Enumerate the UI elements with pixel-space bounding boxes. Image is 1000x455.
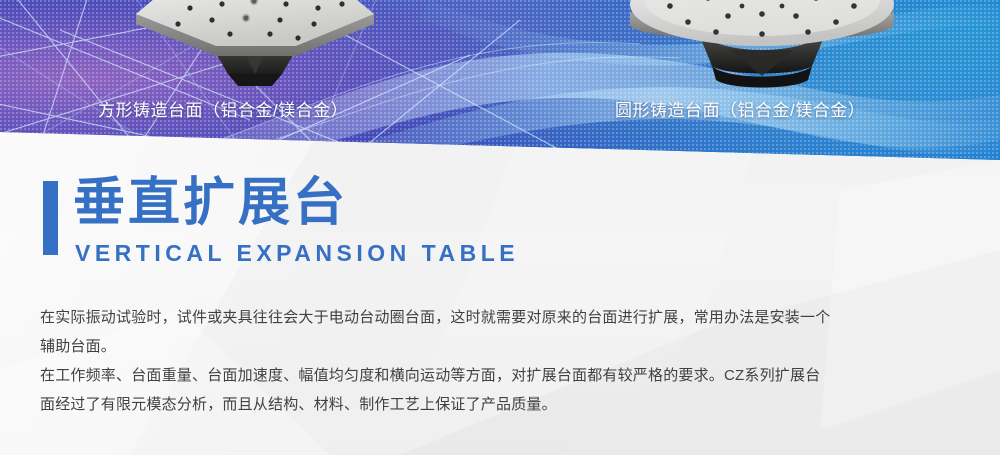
- page-title: 垂直扩展台: [73, 172, 348, 234]
- description-text: 在实际振动试验时，试件或夹具往往会大于电动台动圈台面，这时就需要对原来的台面进行…: [40, 303, 970, 419]
- round-table-caption: 圆形铸造台面（铝合金/镁合金）: [615, 96, 865, 121]
- description-line: 辅助台面。: [40, 332, 970, 361]
- description-line: 面经过了有限元模态分析，而且从结构、材料、制作工艺上保证了产品质量。: [40, 390, 970, 419]
- title-block: 垂直扩展台 VERTICAL EXPANSION TABLE: [43, 178, 643, 268]
- round-table-photo: [612, 0, 912, 100]
- page-subtitle: VERTICAL EXPANSION TABLE: [75, 240, 519, 266]
- title-accent-bar: [43, 181, 58, 255]
- product-feature-page: 方形铸造台面（铝合金/镁合金） 圆形铸造台面（铝合金/镁合金） 垂直扩展台 VE…: [0, 0, 1000, 455]
- square-table-photo: [130, 0, 380, 92]
- description-line: 在实际振动试验时，试件或夹具往往会大于电动台动圈台面，这时就需要对原来的台面进行…: [40, 303, 970, 332]
- square-table-caption: 方形铸造台面（铝合金/镁合金）: [98, 96, 348, 121]
- description-line: 在工作频率、台面重量、台面加速度、幅值均匀度和横向运动等方面，对扩展台面都有较严…: [40, 361, 970, 390]
